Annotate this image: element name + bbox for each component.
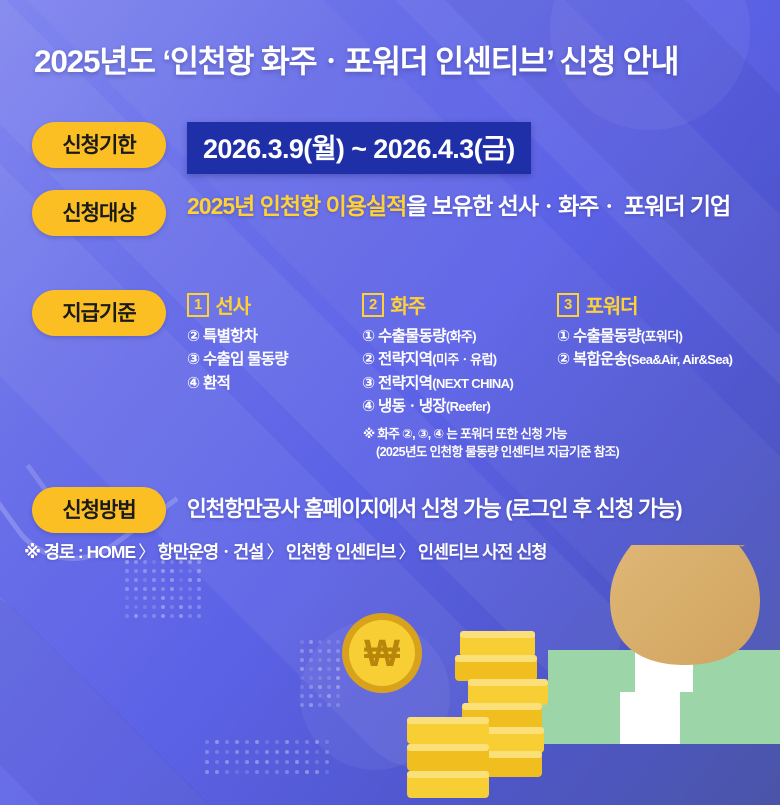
criteria-item: ① 수출물동량(포워더) bbox=[557, 325, 772, 348]
criteria-item: ③ 전략지역(NEXT CHINA) bbox=[362, 372, 557, 395]
coin-stack-short bbox=[407, 717, 489, 798]
page-title: 2025년도 ‘인천항 화주ㆍ포워더 인센티브’ 신청 안내 bbox=[34, 36, 754, 82]
criteria-item-list: ① 수출물동량(화주)② 전략지역(미주ㆍ유럽)③ 전략지역(NEXT CHIN… bbox=[362, 325, 557, 418]
criteria-number-box: 3 bbox=[557, 293, 579, 317]
criteria-footnote: ※ 화주 ②, ③, ④ 는 포워더 또한 신청 가능 (2025년도 인천항 … bbox=[363, 425, 780, 461]
target-row: 신청대상 2025년 인천항 이용실적을 보유한 선사ㆍ화주ㆍ 포워더 기업 bbox=[32, 190, 730, 236]
poster-canvas: 2025년도 ‘인천항 화주ㆍ포워더 인센티브’ 신청 안내 신청기한 2026… bbox=[0, 0, 780, 805]
criteria-item: ① 수출물동량(화주) bbox=[362, 325, 557, 348]
criteria-item-list: ② 특별항차③ 수출입 물동량④ 환적 bbox=[187, 325, 362, 395]
criteria-item-note: (Sea&Air, Air&Sea) bbox=[627, 352, 732, 367]
criteria-column-header: 3포워더 bbox=[557, 290, 772, 319]
target-badge: 신청대상 bbox=[32, 190, 166, 236]
criteria-item-note: (Reefer) bbox=[446, 399, 490, 414]
svg-text:₩: ₩ bbox=[364, 633, 400, 675]
criteria-column-화주: 2화주① 수출물동량(화주)② 전략지역(미주ㆍ유럽)③ 전략지역(NEXT C… bbox=[362, 290, 557, 418]
criteria-item: ④ 냉동ㆍ냉장(Reefer) bbox=[362, 395, 557, 418]
criteria-column-title: 선사 bbox=[215, 290, 250, 319]
method-row: 신청방법 인천항만공사 홈페이지에서 신청 가능 (로그인 후 신청 가능) bbox=[32, 487, 682, 533]
criteria-item-note: (NEXT CHINA) bbox=[432, 376, 513, 391]
deadline-badge: 신청기한 bbox=[32, 122, 166, 168]
criteria-badge: 지급기준 bbox=[32, 290, 166, 336]
criteria-footnote-line2: (2025년도 인천항 물동량 인센티브 지급기준 참조) bbox=[363, 443, 780, 461]
target-value: 2025년 인천항 이용실적을 보유한 선사ㆍ화주ㆍ 포워더 기업 bbox=[187, 190, 730, 223]
deadline-value: 2026.3.9(월) ~ 2026.4.3(금) bbox=[187, 122, 531, 174]
method-badge: 신청방법 bbox=[32, 487, 166, 533]
method-value: 인천항만공사 홈페이지에서 신청 가능 (로그인 후 신청 가능) bbox=[187, 487, 682, 523]
money-bag bbox=[610, 545, 760, 665]
criteria-item: ② 전략지역(미주ㆍ유럽) bbox=[362, 348, 557, 371]
criteria-item-note: (미주ㆍ유럽) bbox=[432, 352, 496, 367]
criteria-item: ④ 환적 bbox=[187, 372, 362, 395]
criteria-row: 지급기준 1선사② 특별항차③ 수출입 물동량④ 환적2화주① 수출물동량(화주… bbox=[32, 290, 772, 418]
criteria-number-box: 2 bbox=[362, 293, 384, 317]
criteria-column-포워더: 3포워더① 수출물동량(포워더)② 복합운송(Sea&Air, Air&Sea) bbox=[557, 290, 772, 418]
criteria-column-선사: 1선사② 특별항차③ 수출입 물동량④ 환적 bbox=[187, 290, 362, 418]
criteria-number-box: 1 bbox=[187, 293, 209, 317]
money-illustration: ₩ bbox=[0, 545, 780, 805]
criteria-footnote-line1: ※ 화주 ②, ③, ④ 는 포워더 또한 신청 가능 bbox=[363, 427, 567, 441]
criteria-item: ② 복합운송(Sea&Air, Air&Sea) bbox=[557, 348, 772, 371]
criteria-column-header: 1선사 bbox=[187, 290, 362, 319]
criteria-item-list: ① 수출물동량(포워더)② 복합운송(Sea&Air, Air&Sea) bbox=[557, 325, 772, 372]
criteria-item-note: (화주) bbox=[446, 329, 476, 344]
criteria-item: ③ 수출입 물동량 bbox=[187, 348, 362, 371]
cash-bundle-lower bbox=[538, 692, 780, 744]
criteria-item: ② 특별항차 bbox=[187, 325, 362, 348]
target-rest: 을 보유한 선사ㆍ화주ㆍ 포워더 기업 bbox=[406, 193, 730, 219]
deadline-row: 신청기한 2026.3.9(월) ~ 2026.4.3(금) bbox=[32, 122, 531, 174]
criteria-column-title: 화주 bbox=[390, 290, 425, 319]
target-highlight: 2025년 인천항 이용실적 bbox=[187, 193, 406, 219]
criteria-columns: 1선사② 특별항차③ 수출입 물동량④ 환적2화주① 수출물동량(화주)② 전략… bbox=[187, 290, 772, 418]
criteria-column-title: 포워더 bbox=[585, 290, 637, 319]
won-coin: ₩ bbox=[342, 613, 422, 693]
criteria-item-note: (포워더) bbox=[641, 329, 683, 344]
criteria-column-header: 2화주 bbox=[362, 290, 557, 319]
